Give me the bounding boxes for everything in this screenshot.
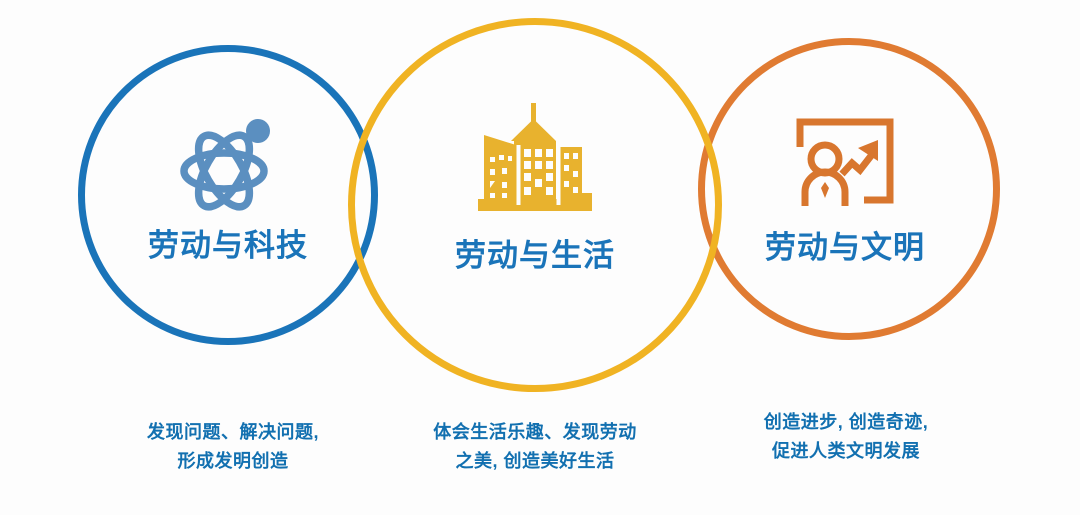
city-buildings-icon-wrapper bbox=[472, 100, 598, 220]
circle-card-life[interactable]: 劳动与生活 bbox=[415, 100, 655, 271]
caption-civilization-line-2: 促进人类文明发展 bbox=[705, 437, 987, 466]
caption-civilization: 创造进步, 创造奇迹, 促进人类文明发展 bbox=[705, 408, 987, 466]
infographic-canvas: 劳动与科技 bbox=[0, 0, 1080, 515]
caption-civilization-line-1: 创造进步, 创造奇迹, bbox=[705, 408, 987, 437]
atom-icon bbox=[176, 113, 280, 213]
caption-life-line-2: 之美, 创造美好生活 bbox=[392, 447, 678, 476]
person-tie-icon bbox=[821, 182, 829, 198]
circle-title-life: 劳动与生活 bbox=[455, 240, 615, 271]
atom-icon-wrapper bbox=[176, 110, 280, 216]
presentation-growth-icon-wrapper bbox=[792, 112, 898, 216]
caption-tech-line-2: 形成发明创造 bbox=[92, 447, 374, 476]
caption-tech-line-1: 发现问题、解决问题, bbox=[92, 418, 374, 447]
circle-title-tech: 劳动与科技 bbox=[148, 230, 308, 261]
growth-arrow-line bbox=[842, 152, 874, 174]
atom-electron-dot bbox=[246, 119, 270, 143]
caption-tech: 发现问题、解决问题, 形成发明创造 bbox=[92, 418, 374, 476]
circle-card-civilization[interactable]: 劳动与文明 bbox=[725, 112, 965, 263]
city-buildings-icon bbox=[472, 101, 598, 219]
caption-life: 体会生活乐趣、发现劳动 之美, 创造美好生活 bbox=[392, 418, 678, 476]
presentation-growth-icon bbox=[792, 114, 898, 214]
caption-life-line-1: 体会生活乐趣、发现劳动 bbox=[392, 418, 678, 447]
circle-title-civilization: 劳动与文明 bbox=[765, 232, 925, 263]
circle-card-tech[interactable]: 劳动与科技 bbox=[108, 110, 348, 261]
